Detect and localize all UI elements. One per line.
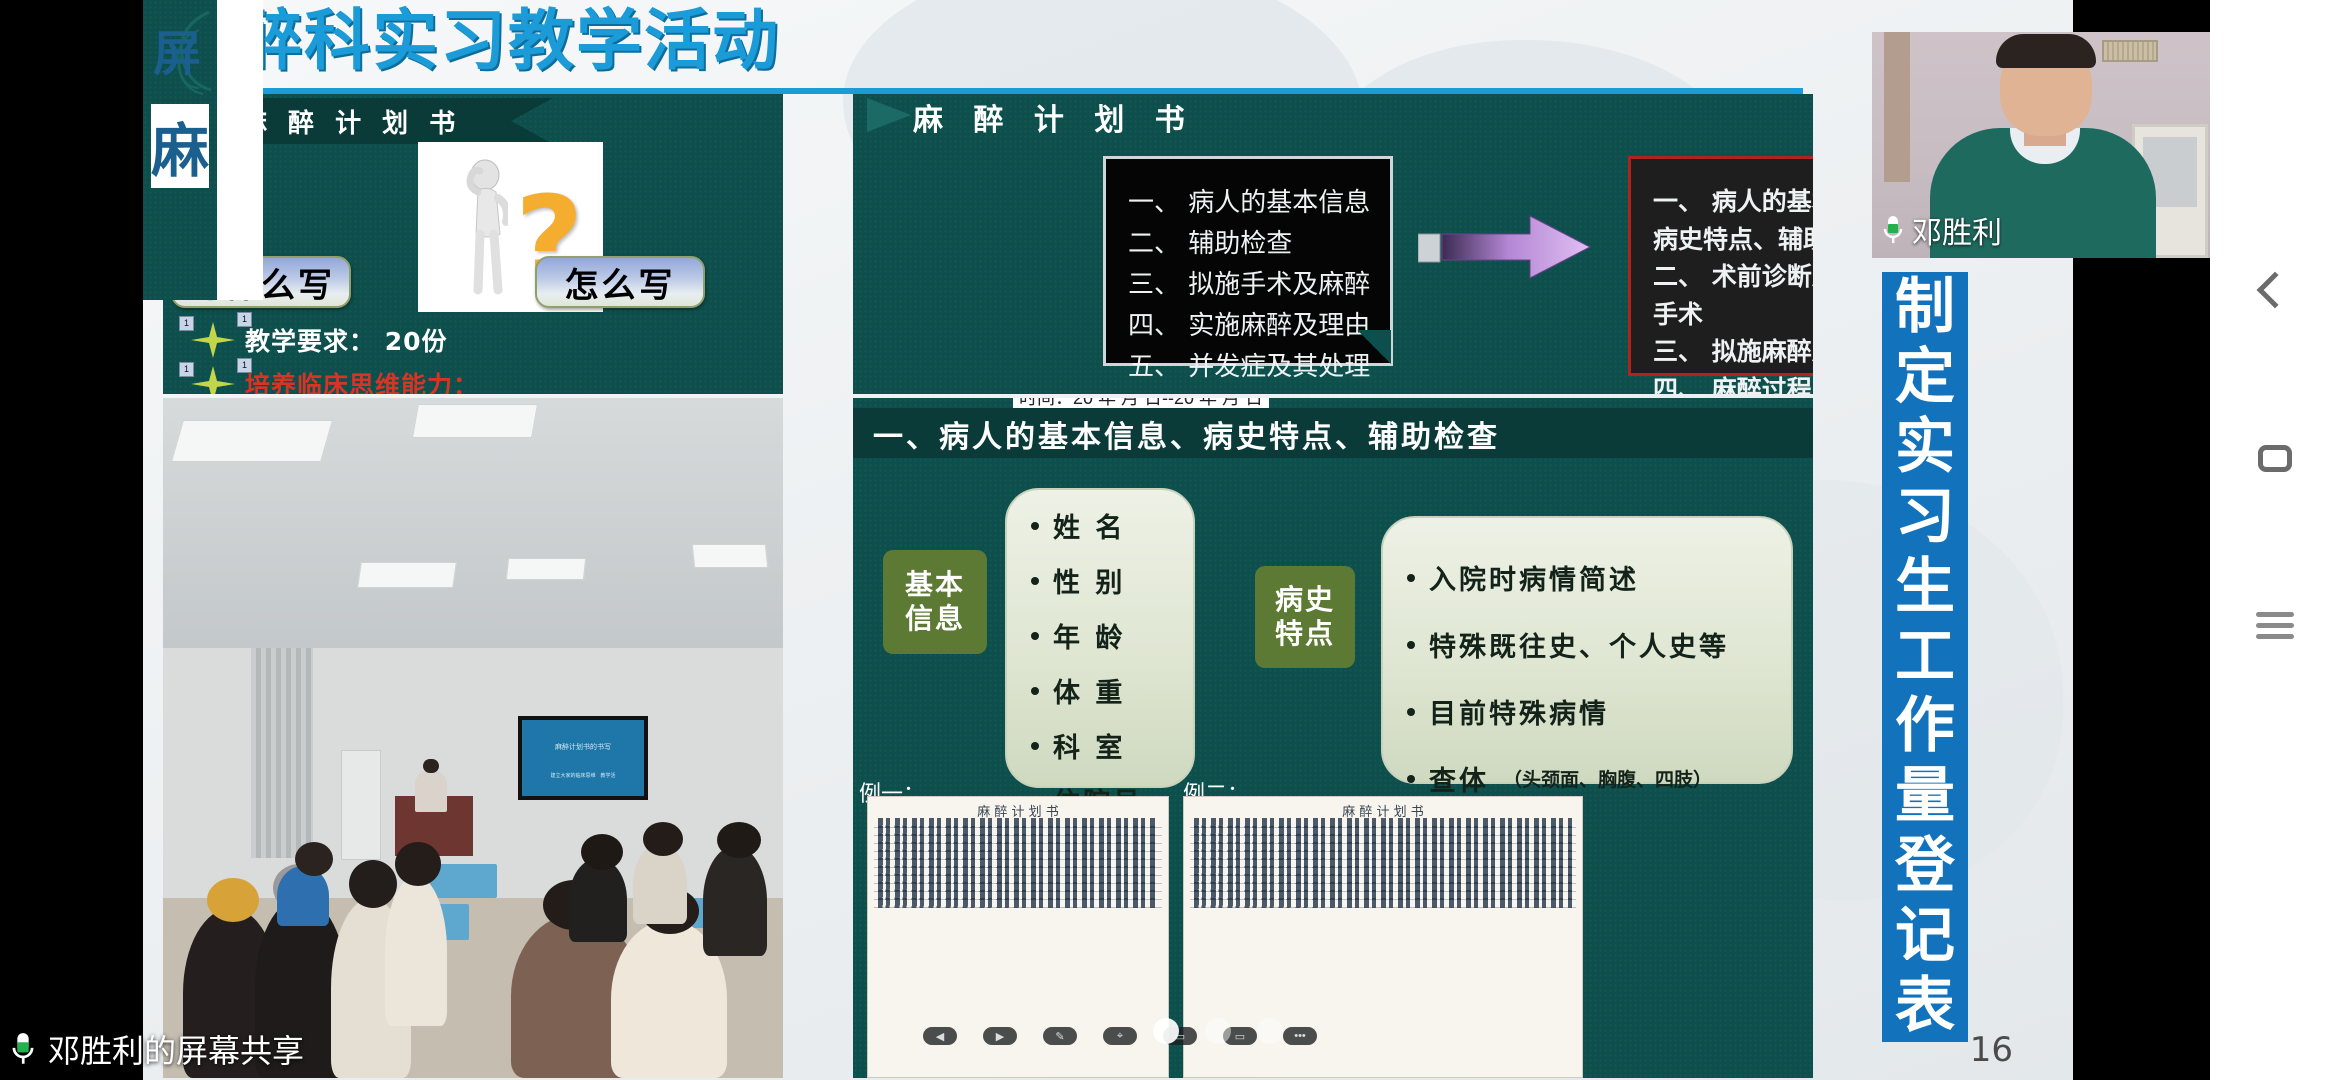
student-head bbox=[643, 822, 683, 856]
vertical-banner-char: 习 bbox=[1895, 488, 1955, 547]
student-figure bbox=[633, 844, 687, 924]
list-item-sublabel: （头颈面、胸腹、四肢） bbox=[1503, 765, 1712, 792]
vertical-banner-char: 作 bbox=[1895, 697, 1955, 756]
microphone-icon bbox=[10, 1032, 36, 1066]
bullet-dot bbox=[1407, 775, 1415, 783]
list-item: 性 别 bbox=[1031, 561, 1193, 600]
plan-list-item: 二、 术前诊断及拟施 bbox=[1653, 258, 1813, 296]
plan-list-item: 四、 麻醉过程及管理 bbox=[1653, 371, 1813, 395]
student-head bbox=[349, 860, 397, 908]
vertical-banner-char: 实 bbox=[1895, 418, 1955, 477]
chip-history-features: 病史 特点 bbox=[1255, 566, 1355, 668]
slide-b-char-2: 麻 bbox=[151, 104, 209, 188]
nav-recents-button[interactable] bbox=[2210, 585, 2340, 665]
chip-basic-info: 基本 信息 bbox=[883, 550, 987, 654]
list-item: 查体（头颈面、胸腹、四肢） bbox=[1407, 759, 1791, 798]
right-arrow-icon bbox=[1418, 212, 1593, 282]
classroom-display: 麻醉计划书的书写 建立大家的临床思维 教学活 bbox=[518, 716, 648, 800]
plan-list-item: 四、 实施麻醉及理由 bbox=[1128, 306, 1368, 347]
list-item-label: 体 重 bbox=[1053, 671, 1125, 710]
section-banner-label: 一、病人的基本信息、病史特点、辅助检查 bbox=[873, 412, 1500, 456]
sparkle-icon bbox=[191, 366, 235, 394]
vertical-banner-char: 登 bbox=[1895, 837, 1955, 896]
self-view-video-tile[interactable]: 邓胜利 bbox=[1872, 32, 2210, 258]
list-item: 特殊既往史、个人史等 bbox=[1407, 625, 1791, 664]
ceiling-lamp bbox=[357, 562, 457, 588]
vertical-banner-char: 表 bbox=[1895, 977, 1955, 1036]
bullet-item: 培养临床思维能力： bbox=[191, 366, 479, 394]
prev-slide-button[interactable]: ◀ bbox=[923, 1027, 957, 1045]
page-fold-corner bbox=[1357, 330, 1391, 364]
home-square-icon bbox=[2258, 445, 2292, 472]
bullet-dot bbox=[1031, 577, 1039, 585]
list-item: 年 龄 bbox=[1031, 616, 1193, 655]
list-item-label: 姓 名 bbox=[1053, 506, 1125, 545]
chip-history-line1: 病史 bbox=[1275, 583, 1335, 617]
list-item: 入院时病情简述 bbox=[1407, 558, 1791, 597]
plan-list-revised: 一、 病人的基本信息、 病史特点、辅助检查 二、 术前诊断及拟施 手术 三、 拟… bbox=[1628, 156, 1813, 376]
shared-screen-viewport[interactable]: 麻醉科实习教学活动 麻 醉 计 划 书 bbox=[143, 0, 2073, 1080]
plan-list-item: 一、 病人的基本信息 bbox=[1128, 183, 1368, 224]
page-number: 16 bbox=[1970, 1030, 2013, 1070]
slide-classroom-photo[interactable]: 麻醉计划书的书写 建立大家的临床思维 教学活 bbox=[163, 398, 783, 1078]
microphone-icon bbox=[1882, 215, 1904, 245]
bullet-item: 教学要求： 20份 bbox=[191, 322, 448, 358]
card-history-items: 入院时病情简述 特殊既往史、个人史等 目前特殊病情 查体（头颈面、胸腹、四肢） bbox=[1381, 516, 1793, 784]
laser-pointer-button[interactable]: ⌖ bbox=[1103, 1027, 1137, 1045]
ink-stroke bbox=[878, 898, 1158, 908]
list-item-label: 科 室 bbox=[1053, 726, 1125, 765]
slide-ribbon: 麻 醉 计 划 书 bbox=[913, 94, 1773, 140]
student-figure bbox=[385, 876, 447, 1026]
vertical-banner: 制 定 实 习 生 工 作 量 登 记 表 bbox=[1882, 272, 1968, 1042]
plan-list-item: 五、 并发症及其处理 bbox=[1128, 347, 1368, 388]
vertical-banner-char: 生 bbox=[1895, 558, 1955, 617]
stickman-svg bbox=[458, 158, 508, 296]
student-head bbox=[717, 822, 761, 858]
vertical-banner-char: 量 bbox=[1895, 767, 1955, 826]
vertical-banner-char: 制 bbox=[1895, 278, 1955, 337]
bullet-text: 培养临床思维能力： bbox=[245, 366, 479, 394]
play-button[interactable]: ▶ bbox=[983, 1027, 1017, 1045]
hamburger-menu-icon bbox=[2256, 606, 2294, 645]
vertical-banner-char: 工 bbox=[1895, 628, 1955, 687]
list-item: 体 重 bbox=[1031, 671, 1193, 710]
student-figure bbox=[277, 866, 329, 926]
list-item-label: 年 龄 bbox=[1053, 616, 1125, 655]
plan-list-item: 手术 bbox=[1653, 296, 1813, 334]
button-how-write-label: 怎么写 bbox=[565, 258, 676, 307]
student-head bbox=[581, 834, 623, 870]
slide-plan-comparison[interactable]: 麻 醉 计 划 书 一、 病人的基本信息 二、 辅助检查 三、 拟施手术及麻醉 … bbox=[853, 94, 1813, 394]
slide-partially-hidden[interactable]: 屏 麻 bbox=[143, 0, 263, 300]
pagination-dot-active[interactable] bbox=[1153, 1018, 1179, 1044]
pagination-dot[interactable] bbox=[1205, 1018, 1231, 1044]
slide-ribbon-label: 麻 醉 计 划 书 bbox=[241, 103, 461, 140]
plan-list-original: 一、 病人的基本信息 二、 辅助检查 三、 拟施手术及麻醉 四、 实施麻醉及理由… bbox=[1103, 156, 1393, 366]
background-vent bbox=[2102, 40, 2158, 62]
shared-screen-content: 麻醉科实习教学活动 麻 醉 计 划 书 bbox=[143, 0, 2073, 1080]
student-figure bbox=[569, 858, 627, 942]
bullet-dot bbox=[1407, 574, 1415, 582]
plan-list-item: 三、 拟施手术及麻醉 bbox=[1128, 265, 1368, 306]
list-item-label: 目前特殊病情 bbox=[1429, 692, 1609, 731]
more-options-button[interactable]: ••• bbox=[1283, 1027, 1317, 1045]
plan-list-item: 病史特点、辅助检查 bbox=[1653, 221, 1813, 259]
plan-list-item: 一、 病人的基本信息、 bbox=[1653, 183, 1813, 221]
card-basic-items: 姓 名 性 别 年 龄 体 重 科 室 住院号 bbox=[1005, 488, 1195, 788]
bullet-dot bbox=[1031, 632, 1039, 640]
student-figure bbox=[703, 846, 767, 956]
ink-stroke bbox=[1194, 898, 1572, 908]
ceiling-lamp bbox=[692, 544, 769, 568]
air-conditioner bbox=[341, 750, 381, 860]
screen-share-label: 邓胜利的屏幕共享 bbox=[48, 1026, 304, 1072]
list-item-label: 入院时病情简述 bbox=[1429, 558, 1639, 597]
chip-basic-info-line2: 信息 bbox=[905, 602, 965, 636]
list-item: 目前特殊病情 bbox=[1407, 692, 1791, 731]
bullet-dot bbox=[1031, 687, 1039, 695]
ceiling-lamp bbox=[171, 420, 333, 462]
slide-ribbon-label: 麻 醉 计 划 书 bbox=[913, 95, 1195, 139]
plan-list-item: 三、 拟施麻醉及理由 bbox=[1653, 333, 1813, 371]
student-head bbox=[207, 878, 259, 922]
presenter-figure bbox=[415, 770, 447, 812]
list-item-label: 特殊既往史、个人史等 bbox=[1429, 625, 1729, 664]
handwritten-line bbox=[874, 907, 1162, 908]
participant-hair bbox=[1996, 34, 2096, 68]
window-curtain bbox=[251, 648, 313, 858]
plan-list-item: 二、 辅助检查 bbox=[1128, 224, 1368, 265]
background-door bbox=[1884, 32, 1910, 182]
pagination-dot[interactable] bbox=[1257, 1018, 1283, 1044]
participant-name: 邓胜利 bbox=[1912, 208, 2002, 252]
display-subcaption: 建立大家的临床思维 教学活 bbox=[522, 772, 644, 779]
nav-home-button[interactable] bbox=[2210, 418, 2340, 498]
slide-b-char-1: 屏 bbox=[153, 14, 201, 84]
vertical-banner-char: 定 bbox=[1895, 348, 1955, 407]
display-caption: 麻醉计划书的书写 bbox=[522, 742, 644, 752]
list-item-label: 性 别 bbox=[1053, 561, 1125, 600]
bullet-dot bbox=[1031, 742, 1039, 750]
student-head bbox=[395, 842, 441, 886]
handwritten-line bbox=[1190, 907, 1576, 908]
list-item: 姓 名 bbox=[1031, 506, 1193, 545]
student-head bbox=[295, 842, 333, 876]
chevron-left-icon bbox=[2257, 272, 2294, 309]
bullet-dot bbox=[1407, 708, 1415, 716]
vertical-banner-char: 记 bbox=[1895, 907, 1955, 966]
chip-history-line2: 特点 bbox=[1275, 617, 1335, 651]
ceiling-lamp bbox=[506, 558, 586, 580]
list-item-label: 查体 bbox=[1429, 759, 1489, 798]
screen-share-indicator: 邓胜利的屏幕共享 bbox=[10, 1026, 304, 1072]
sparkle-icon bbox=[191, 322, 235, 358]
nav-back-button[interactable] bbox=[2210, 250, 2340, 330]
participant-name-badge: 邓胜利 bbox=[1882, 208, 2002, 252]
bullet-text: 教学要求： 20份 bbox=[245, 322, 448, 358]
phone-screen: 麻醉科实习教学活动 麻 醉 计 划 书 bbox=[0, 0, 2340, 1080]
pen-button[interactable]: ✎ bbox=[1043, 1027, 1077, 1045]
slide-pagination[interactable] bbox=[1153, 1018, 1283, 1044]
bullet-dot bbox=[1407, 641, 1415, 649]
ceiling-lamp bbox=[412, 404, 538, 438]
button-how-write[interactable]: 怎么写 bbox=[535, 256, 705, 308]
list-item: 科 室 bbox=[1031, 726, 1193, 765]
slide-patient-basics[interactable]: 时间：20 年 月 日--20 年 月 日 一、病人的基本信息、病史特点、辅助检… bbox=[853, 398, 1813, 1078]
android-nav-rail bbox=[2210, 0, 2340, 1080]
chip-basic-info-line1: 基本 bbox=[905, 568, 965, 602]
bullet-dot bbox=[1031, 522, 1039, 530]
